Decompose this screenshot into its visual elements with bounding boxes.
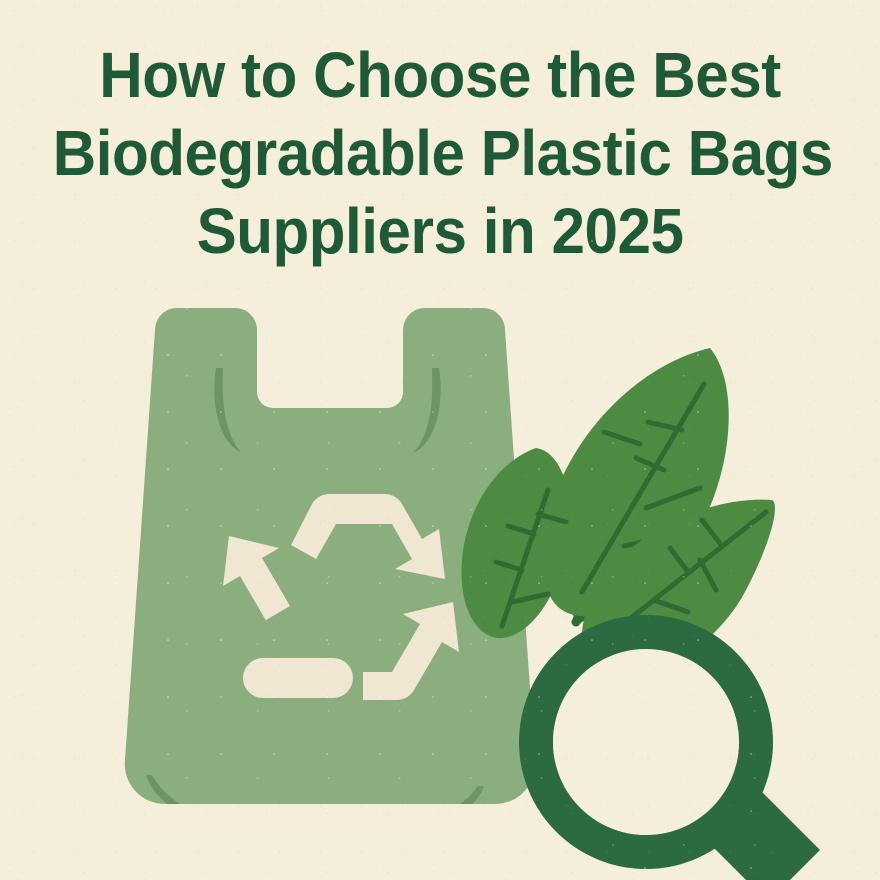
poster-canvas: How to Choose the Best Biodegradable Pla… bbox=[0, 0, 880, 880]
magnifying-glass bbox=[536, 632, 820, 880]
magnifier-lens bbox=[553, 649, 739, 835]
title-line-3: Suppliers in 2025 bbox=[53, 192, 828, 270]
title-line-2: Biodegradable Plastic Bags bbox=[53, 114, 828, 192]
page-title: How to Choose the Best Biodegradable Pla… bbox=[0, 36, 880, 270]
title-line-1: How to Choose the Best bbox=[53, 36, 828, 114]
